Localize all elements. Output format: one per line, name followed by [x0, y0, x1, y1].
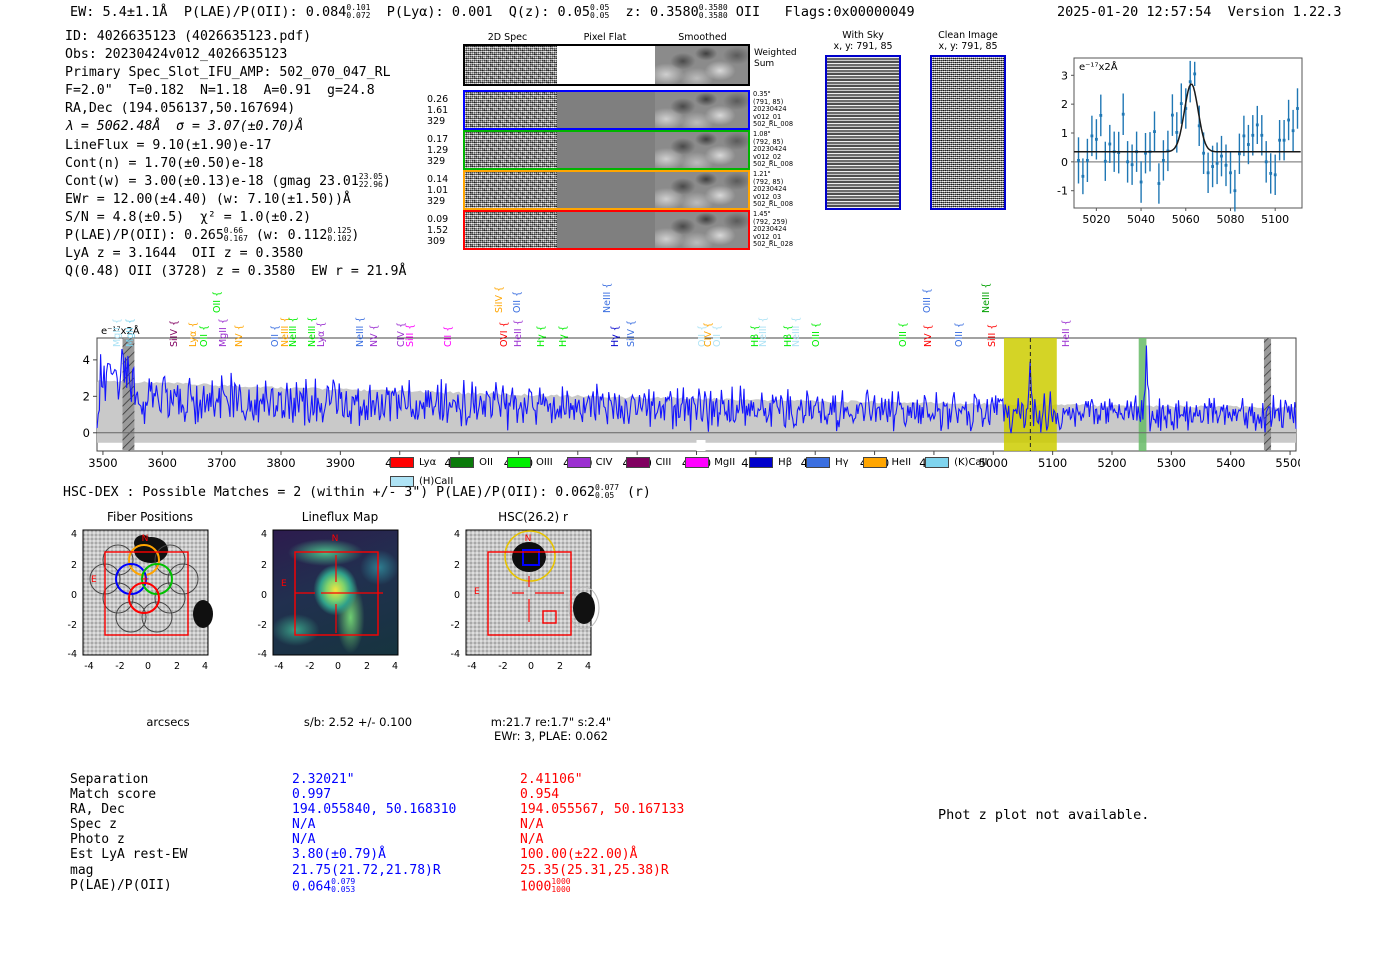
svg-text:4: 4	[261, 529, 267, 540]
hscdex-line-tail: (r)	[627, 485, 651, 500]
svg-text:N: N	[332, 534, 339, 544]
header-flags: Flags:0x00000049	[785, 4, 915, 20]
exposure-smoothed-image	[655, 132, 748, 168]
full-spectrum-panel: 3500360037003800390040004100420043004400…	[75, 258, 1300, 473]
table-row-red-value: 2.41106"	[520, 772, 820, 787]
legend-label: CIII	[655, 457, 671, 468]
svg-text:2: 2	[364, 661, 370, 672]
info-line-seeing: F=2.0" T=0.182 N=1.18 A=0.91 g=24.8	[65, 82, 406, 100]
info-line-sn: S/N = 4.8(±0.5) χ² = 1.0(±0.2)	[65, 209, 406, 227]
exposure-row	[463, 170, 750, 210]
header-qz-value: 0.05	[558, 4, 591, 20]
with-sky-title: With Sky	[818, 30, 908, 41]
table-row-blue-value: 0.997	[292, 787, 520, 802]
table-row-label: Est LyA rest-EW	[70, 847, 292, 862]
legend-label: OII	[479, 457, 493, 468]
svg-text:5060: 5060	[1172, 213, 1200, 226]
table-row-blue-value: 21.75(21.72,21.78)R	[292, 863, 520, 878]
svg-text:2: 2	[557, 661, 563, 672]
legend-label: Hβ	[778, 457, 792, 468]
hsc-r-xlabel2: EWr: 3, PLAE: 0.062	[456, 729, 646, 743]
legend-item: HeII	[863, 457, 912, 469]
header-summary: EW: 5.4±1.1Å P(LAE)/P(OII): 0.0840.1010.…	[70, 4, 915, 20]
header-z-value: 0.3580	[650, 4, 699, 20]
table-row-blue-value: 3.80(±0.79)Å	[292, 847, 520, 862]
legend-swatch	[390, 457, 414, 468]
legend-item: OII	[450, 457, 493, 469]
svg-text:e⁻¹⁷x2Å: e⁻¹⁷x2Å	[1079, 60, 1118, 73]
legend-label: Lyα	[419, 457, 436, 468]
svg-text:2: 2	[174, 661, 180, 672]
legend-item: CIII	[626, 457, 671, 469]
svg-text:4: 4	[392, 661, 398, 672]
svg-text:-1: -1	[1057, 185, 1068, 198]
svg-text:5020: 5020	[1082, 213, 1110, 226]
svg-text:4: 4	[202, 661, 208, 672]
legend-label: (K)CaII	[954, 457, 987, 468]
clean-image-subtitle: x, y: 791, 85	[923, 41, 1013, 52]
info-line-ewr: EWr = 12.00(±4.40) (w: 7.10(±1.50))Å	[65, 191, 406, 209]
svg-text:2: 2	[1061, 98, 1068, 111]
panel-title-2dspec: 2D Spec	[460, 32, 555, 43]
table-row-red-value: 100.00(±22.00)Å	[520, 847, 820, 862]
svg-text:0: 0	[83, 426, 90, 440]
header-qz-label: Q(z):	[509, 4, 550, 20]
svg-text:e⁻¹⁷x2Å: e⁻¹⁷x2Å	[101, 324, 140, 337]
legend-swatch	[626, 457, 650, 468]
clean-image-panel: Clean Image x, y: 791, 85	[923, 30, 1013, 210]
header-timestamp-block: 2025-01-20 12:57:54 Version 1.22.3	[1057, 4, 1342, 20]
exposure-right-meta: 0.35"(791, 85)20230424v012_01502_RL_008	[753, 91, 811, 129]
table-row: Spec z N/A N/A	[70, 817, 820, 832]
svg-text:-2: -2	[115, 661, 124, 672]
legend-label: CIV	[596, 457, 613, 468]
table-row-blue-value: 194.055840, 50.168310	[292, 802, 520, 817]
svg-text:-4: -4	[84, 661, 93, 672]
header-plae-range: 0.1010.072	[346, 4, 370, 20]
svg-text:-2: -2	[258, 620, 267, 631]
svg-text:4: 4	[585, 661, 591, 672]
fiber-positions-panel: Fiber Positions	[55, 510, 245, 729]
exposure-rows: 0.261.613290.35"(791, 85)20230424v012_01…	[460, 90, 810, 250]
svg-text:-4: -4	[68, 649, 77, 660]
legend-item: MgII	[685, 457, 735, 469]
with-sky-subtitle: x, y: 791, 85	[818, 41, 908, 52]
svg-text:3: 3	[1061, 69, 1068, 82]
exposure-left-stats: 0.141.01329	[427, 174, 457, 207]
svg-text:2: 2	[83, 389, 90, 403]
exposure-row	[463, 90, 750, 130]
table-row-red-value: N/A	[520, 832, 820, 847]
svg-text:5080: 5080	[1216, 213, 1244, 226]
legend-swatch	[749, 457, 773, 468]
exposure-2dspec-image	[465, 212, 557, 248]
svg-text:3900: 3900	[326, 456, 355, 470]
legend-swatch	[507, 457, 531, 468]
svg-text:-4: -4	[467, 661, 476, 672]
table-row: Photo z N/A N/A	[70, 832, 820, 847]
svg-text:5300: 5300	[1157, 456, 1186, 470]
svg-text:-4: -4	[451, 649, 460, 660]
header-qz-range: 0.050.05	[590, 4, 609, 20]
hsc-r-panel: HSC(26.2) r N E 4 2 0	[438, 510, 628, 743]
svg-text:4: 4	[71, 529, 77, 540]
svg-text:-2: -2	[498, 661, 507, 672]
fiber-positions-title: Fiber Positions	[55, 510, 245, 524]
legend-item: Lyα	[390, 457, 436, 469]
table-row: Separation 2.32021" 2.41106"	[70, 772, 820, 787]
clean-image-image	[930, 55, 1006, 210]
hsc-r-svg: N E 4 2 0 -2 -4 -4 -2 0 2 4	[438, 526, 628, 716]
header-z-species: OII	[736, 4, 760, 20]
weighted-sum-label: Weighted Sum	[754, 48, 797, 70]
legend-label: MgII	[714, 457, 735, 468]
svg-text:5040: 5040	[1127, 213, 1155, 226]
cutout-panels: Fiber Positions	[55, 510, 655, 740]
exposure-smoothed-image	[655, 92, 748, 128]
exposure-right-meta: 1.45"(792, 259)20230424v012_01502_RL_028	[753, 211, 811, 249]
lineflux-map-xlabel: s/b: 2.52 +/- 0.100	[263, 715, 453, 729]
exposure-left-stats: 0.171.29329	[427, 134, 457, 167]
exposure-right-meta: 1.21"(792, 85)20230424v012_03502_RL_008	[753, 171, 811, 209]
exposure-smoothed-image	[655, 172, 748, 208]
table-row-red-value: 25.35(25.31,25.38)R	[520, 863, 820, 878]
svg-text:N: N	[525, 534, 532, 544]
svg-text:-4: -4	[258, 649, 267, 660]
hsc-r-title: HSC(26.2) r	[438, 510, 628, 524]
fiber-positions-svg: N E + 4 2 0 -2 -4 -4 -2 0 2 4	[55, 526, 245, 716]
weighted-sum-row	[463, 44, 750, 86]
lineflux-map-panel: Lineflux Map N E 4 2 0 -2 -4	[245, 510, 435, 729]
svg-text:-2: -2	[68, 620, 77, 631]
header-ew-value: 5.4±1.1Å	[103, 4, 168, 20]
svg-text:2: 2	[454, 560, 460, 571]
table-row-red-value: 194.055567, 50.167133	[520, 802, 820, 817]
legend-item: Hβ	[749, 457, 792, 469]
svg-text:3600: 3600	[148, 456, 177, 470]
exposure-2dspec-image	[465, 92, 557, 128]
exposure-right-meta: 1.08"(792, 85)20230424v012_02502_RL_008	[753, 131, 811, 169]
legend-swatch	[863, 457, 887, 468]
svg-text:-2: -2	[305, 661, 314, 672]
table-row: RA, Dec 194.055840, 50.168310 194.055567…	[70, 802, 820, 817]
svg-text:5200: 5200	[1097, 456, 1126, 470]
table-row: mag 21.75(21.72,21.78)R 25.35(25.31,25.3…	[70, 863, 820, 878]
table-row-blue-value: N/A	[292, 832, 520, 847]
table-row-red-value: 0.954	[520, 787, 820, 802]
legend-label: HeII	[892, 457, 912, 468]
exposure-left-stats: 0.261.61329	[427, 94, 457, 127]
table-row: P(LAE)/P(OII) 0.0640.0790.053 1000100010…	[70, 878, 820, 895]
legend-swatch	[925, 457, 949, 468]
info-line-id: ID: 4026635123 (4026635123.pdf)	[65, 28, 406, 46]
legend-item: (K)CaII	[925, 457, 987, 469]
svg-text:3800: 3800	[266, 456, 295, 470]
svg-text:0: 0	[528, 661, 534, 672]
legend-label: OIII	[536, 457, 553, 468]
legend-swatch	[685, 457, 709, 468]
panel-title-smoothed: Smoothed	[655, 32, 750, 43]
line-zoom-plot: 50205040506050805100-10123e⁻¹⁷x2Å	[1040, 48, 1310, 238]
legend-swatch	[450, 457, 474, 468]
svg-text:0: 0	[71, 590, 77, 601]
table-row-label: Separation	[70, 772, 292, 787]
table-row-red-value: N/A	[520, 817, 820, 832]
svg-text:+: +	[141, 574, 149, 585]
header-z-label: z:	[626, 4, 642, 20]
exposure-2dspec-image	[465, 132, 557, 168]
svg-text:1: 1	[1061, 127, 1068, 140]
exposure-pixelflat-image	[557, 92, 655, 128]
full-spectrum-svg: 3500360037003800390040004100420043004400…	[75, 258, 1300, 473]
fiber-positions-xlabel: arcsecs	[73, 715, 263, 729]
table-row-blue-value: 0.0640.0790.053	[292, 878, 520, 895]
svg-text:E: E	[474, 587, 480, 597]
exposure-pixelflat-image	[557, 172, 655, 208]
line-zoom-svg: 50205040506050805100-10123e⁻¹⁷x2Å	[1040, 48, 1310, 238]
object-info-block: ID: 4026635123 (4026635123.pdf) Obs: 202…	[65, 28, 406, 281]
table-row-label: RA, Dec	[70, 802, 292, 817]
svg-text:E: E	[91, 575, 97, 585]
header-z-range: 0.35800.3580	[699, 4, 728, 20]
table-row-blue-value: N/A	[292, 817, 520, 832]
hscdex-plae-range: 0.0770.05	[595, 484, 619, 500]
exposure-pixelflat-image	[557, 132, 655, 168]
weighted-sum-pixelflat-image	[557, 46, 655, 84]
legend-label: Hγ	[835, 457, 848, 468]
svg-text:E: E	[281, 579, 287, 589]
table-row-label: P(LAE)/P(OII)	[70, 878, 292, 895]
header-plya-value: 0.001	[452, 4, 493, 20]
table-row-label: Spec z	[70, 817, 292, 832]
exposure-row	[463, 210, 750, 250]
svg-text:-2: -2	[451, 620, 460, 631]
info-line-radec: RA,Dec (194.056137,50.167694)	[65, 100, 406, 118]
svg-text:2: 2	[261, 560, 267, 571]
table-row-label: Match score	[70, 787, 292, 802]
table-row-red-value: 100010001000	[520, 878, 820, 895]
twod-spec-panels: 2D Spec Pixel Flat Smoothed Weighted Sum…	[460, 32, 810, 247]
svg-text:0: 0	[454, 590, 460, 601]
lineflux-map-title: Lineflux Map	[245, 510, 435, 524]
timestamp: 2025-01-20 12:57:54	[1057, 4, 1211, 20]
legend-swatch	[567, 457, 591, 468]
exposure-row	[463, 130, 750, 170]
exposure-pixelflat-image	[557, 212, 655, 248]
spectrum-legend: Lyα OII OIII CIV CIII MgII Hβ Hγ HeII (K…	[390, 450, 1030, 488]
legend-item: CIV	[567, 457, 613, 469]
legend-item: Hγ	[806, 457, 848, 469]
svg-text:-4: -4	[274, 661, 283, 672]
exposure-left-stats: 0.091.52309	[427, 214, 457, 247]
info-line-plae: P(LAE)/P(OII): 0.2650.660.167 (w: 0.1120…	[65, 227, 406, 245]
info-line-cont-n: Cont(n) = 1.70(±0.50)e-18	[65, 155, 406, 173]
info-line-wavelength: λ = 5062.48Å σ = 3.07(±0.70)Å	[65, 118, 406, 136]
panel-title-pixelflat: Pixel Flat	[555, 32, 655, 43]
svg-text:4: 4	[83, 353, 90, 367]
svg-text:3500: 3500	[88, 456, 117, 470]
svg-text:5100: 5100	[1261, 213, 1289, 226]
svg-text:2: 2	[71, 560, 77, 571]
match-table: Separation 2.32021" 2.41106" Match score…	[70, 772, 820, 894]
photoz-note: Phot z plot not available.	[938, 807, 1149, 823]
svg-text:5100: 5100	[1038, 456, 1067, 470]
with-sky-panel: With Sky x, y: 791, 85	[818, 30, 908, 210]
weighted-sum-2dspec-image	[465, 46, 557, 84]
header-plya-label: P(Lyα):	[387, 4, 444, 20]
lineflux-map-svg: N E 4 2 0 -2 -4 -4 -2 0 2 4	[245, 526, 435, 716]
svg-text:0: 0	[261, 590, 267, 601]
exposure-smoothed-image	[655, 212, 748, 248]
svg-text:0: 0	[145, 661, 151, 672]
svg-text:N: N	[142, 534, 149, 544]
svg-text:5400: 5400	[1216, 456, 1245, 470]
hscdex-line: HSC-DEX : Possible Matches = 2 (within +…	[63, 485, 595, 500]
info-line-cont-w: Cont(w) = 3.00(±0.13)e-18 (gmag 23.0123.…	[65, 173, 406, 191]
hsc-r-xlabel: m:21.7 re:1.7" s:2.4"	[456, 715, 646, 729]
legend-swatch	[806, 457, 830, 468]
svg-text:3700: 3700	[207, 456, 236, 470]
table-row: Est LyA rest-EW 3.80(±0.79)Å 100.00(±22.…	[70, 847, 820, 862]
weighted-sum-smoothed-image	[655, 46, 748, 84]
clean-image-title: Clean Image	[923, 30, 1013, 41]
info-line-lineflux: LineFlux = 9.10(±1.90)e-17	[65, 137, 406, 155]
version: Version 1.22.3	[1228, 4, 1342, 20]
with-sky-image	[825, 55, 901, 210]
svg-text:0: 0	[1061, 156, 1068, 169]
table-row-label: Photo z	[70, 832, 292, 847]
header-ew-label: EW:	[70, 4, 94, 20]
table-row-blue-value: 2.32021"	[292, 772, 520, 787]
header-plae-label: P(LAE)/P(OII):	[184, 4, 298, 20]
legend-item: OIII	[507, 457, 553, 469]
hscdex-summary: HSC-DEX : Possible Matches = 2 (within +…	[63, 484, 651, 500]
table-row-label: mag	[70, 863, 292, 878]
svg-text:4: 4	[454, 529, 460, 540]
info-line-primary-spec: Primary Spec_Slot_IFU_AMP: 502_070_047_R…	[65, 64, 406, 82]
svg-text:5500: 5500	[1275, 456, 1300, 470]
info-line-obs: Obs: 20230424v012_4026635123	[65, 46, 406, 64]
table-row: Match score 0.997 0.954	[70, 787, 820, 802]
header-plae-value: 0.084	[306, 4, 347, 20]
exposure-2dspec-image	[465, 172, 557, 208]
svg-text:0: 0	[335, 661, 341, 672]
